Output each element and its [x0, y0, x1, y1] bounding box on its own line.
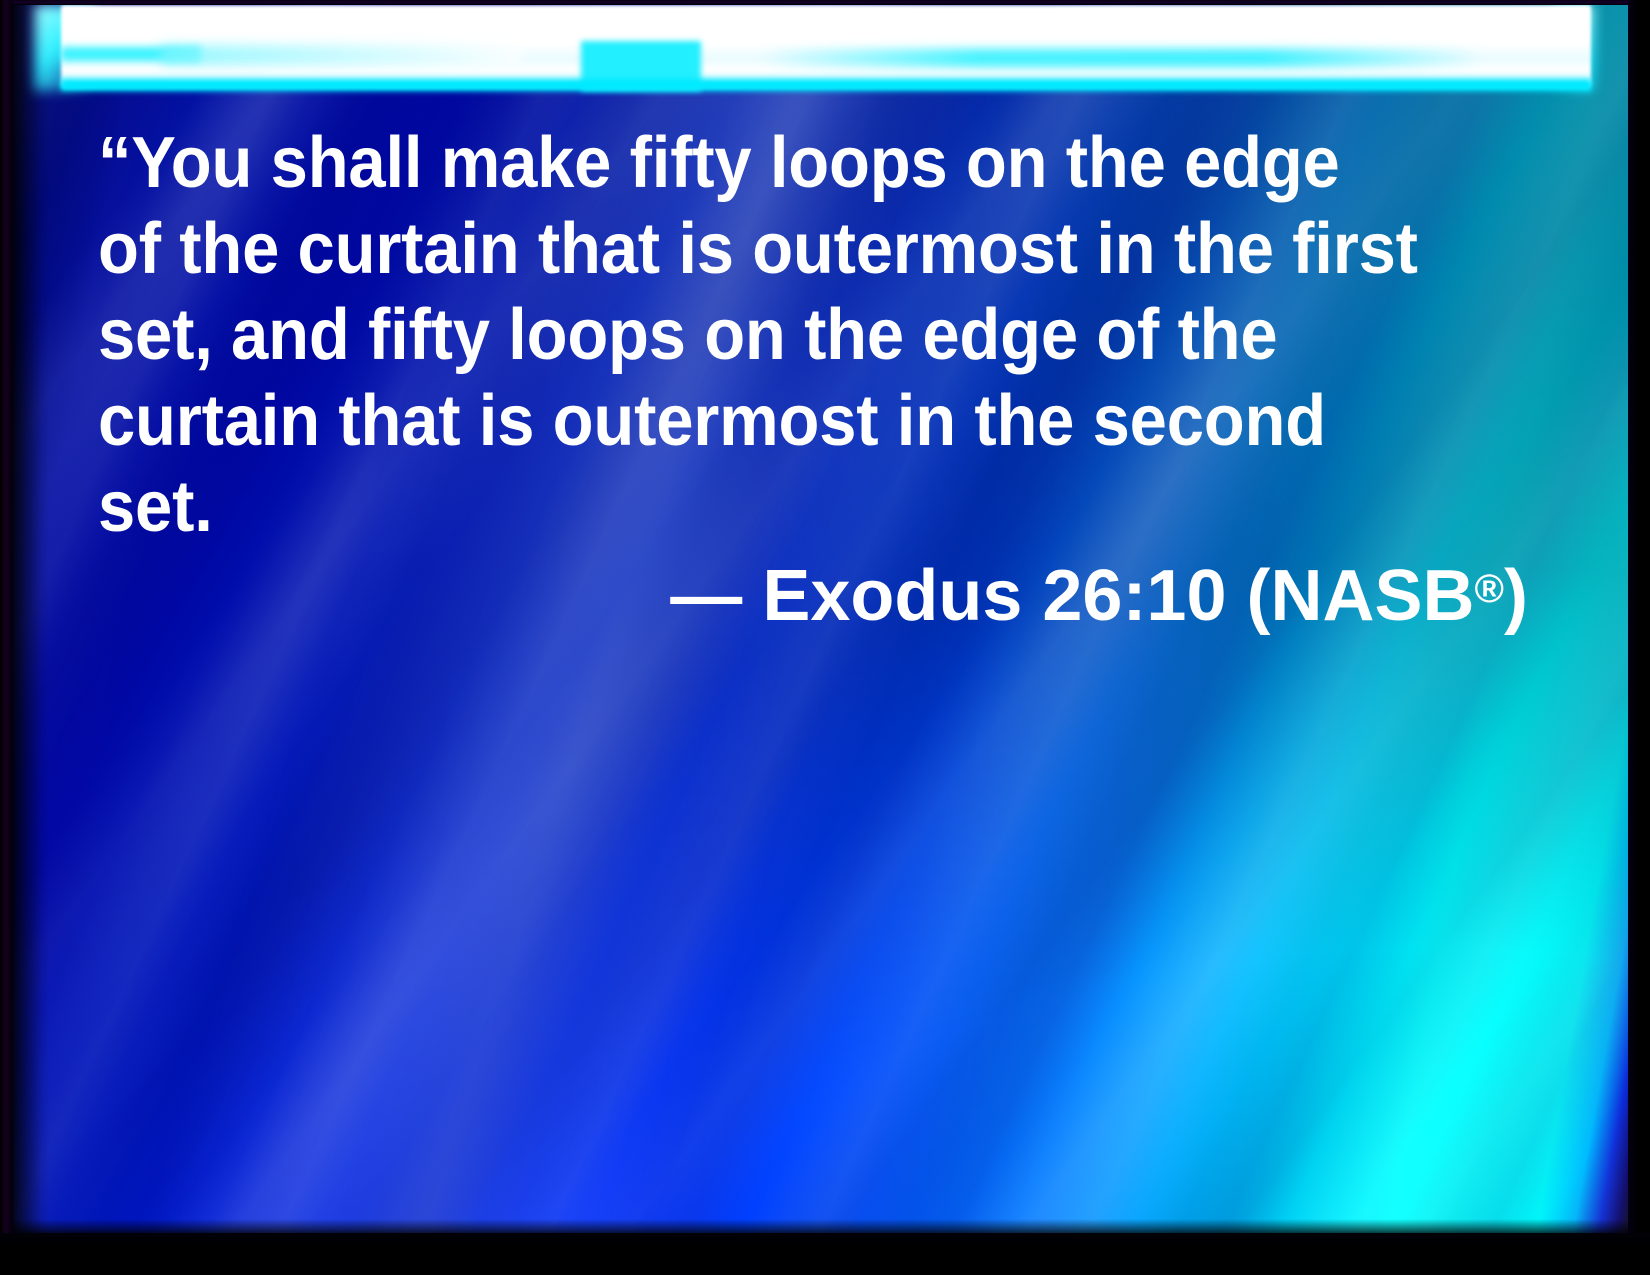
attribution-translation-open: (NASB — [1247, 556, 1475, 636]
frame-border-right — [1628, 0, 1650, 1275]
top-light-bar-cyan-streak-4 — [761, 49, 1481, 67]
frame-border-bottom — [0, 1233, 1650, 1275]
bible-verse-slide: “You shall make fifty loops on the edge … — [0, 0, 1650, 1275]
top-light-bar-cyan-underline — [61, 79, 1591, 91]
verse-text: “You shall make fifty loops on the edge … — [98, 120, 1419, 550]
attribution-reference: Exodus 26:10 — [762, 556, 1246, 636]
top-light-bar-cyan-streak-2 — [161, 45, 521, 65]
top-light-bar — [61, 5, 1591, 89]
attribution-dash: — — [670, 556, 762, 636]
frame-border-left — [0, 0, 13, 1275]
background-bottom-vignette — [13, 1219, 1628, 1233]
registered-trademark-icon: ® — [1475, 567, 1504, 611]
background-left-vignette — [13, 5, 49, 1233]
frame-border-top — [0, 0, 1650, 5]
attribution-translation-close: ) — [1504, 556, 1528, 636]
verse-text-block: “You shall make fifty loops on the edge … — [98, 120, 1518, 550]
slide-background: “You shall make fifty loops on the edge … — [13, 5, 1628, 1233]
verse-attribution: — Exodus 26:10 (NASB®) — [98, 553, 1528, 639]
